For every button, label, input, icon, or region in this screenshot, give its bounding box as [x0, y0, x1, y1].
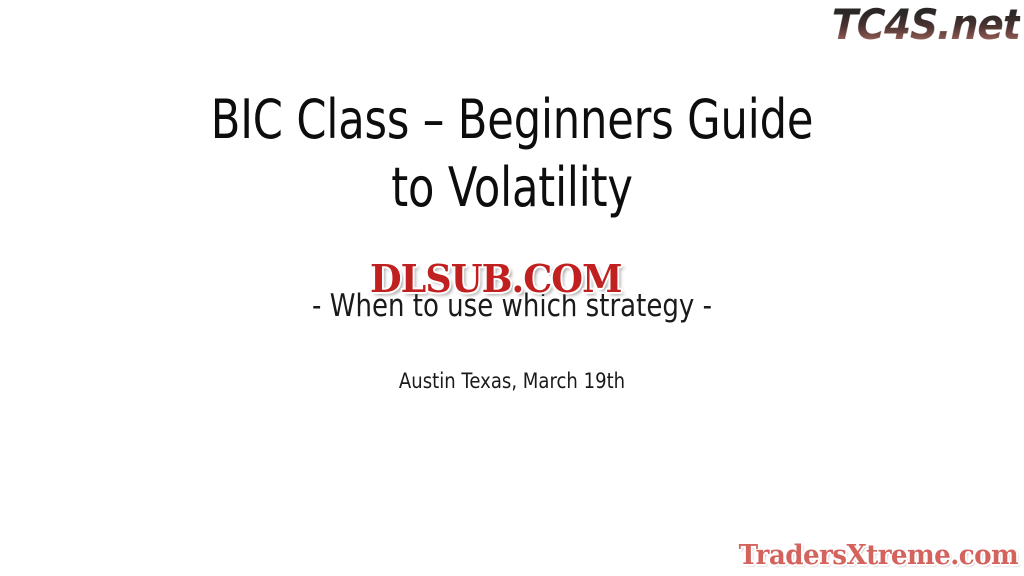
slide-date-location: Austin Texas, March 19th	[0, 368, 1024, 394]
presentation-slide: TC4S.net BIC Class – Beginners Guide to …	[0, 0, 1024, 576]
slide-date-location-text: Austin Texas, March 19th	[72, 368, 953, 394]
watermark-dlsub-com: DLSUB.COM	[370, 258, 622, 300]
slide-title-line-2: to Volatility	[102, 154, 921, 222]
slide-title: BIC Class – Beginners Guide to Volatilit…	[0, 86, 1024, 222]
slide-title-line-1: BIC Class – Beginners Guide	[102, 86, 921, 154]
watermark-tc4s-net: TC4S.net	[830, 2, 1020, 48]
watermark-tradersxtreme-com: TradersXtreme.com	[739, 540, 1018, 572]
